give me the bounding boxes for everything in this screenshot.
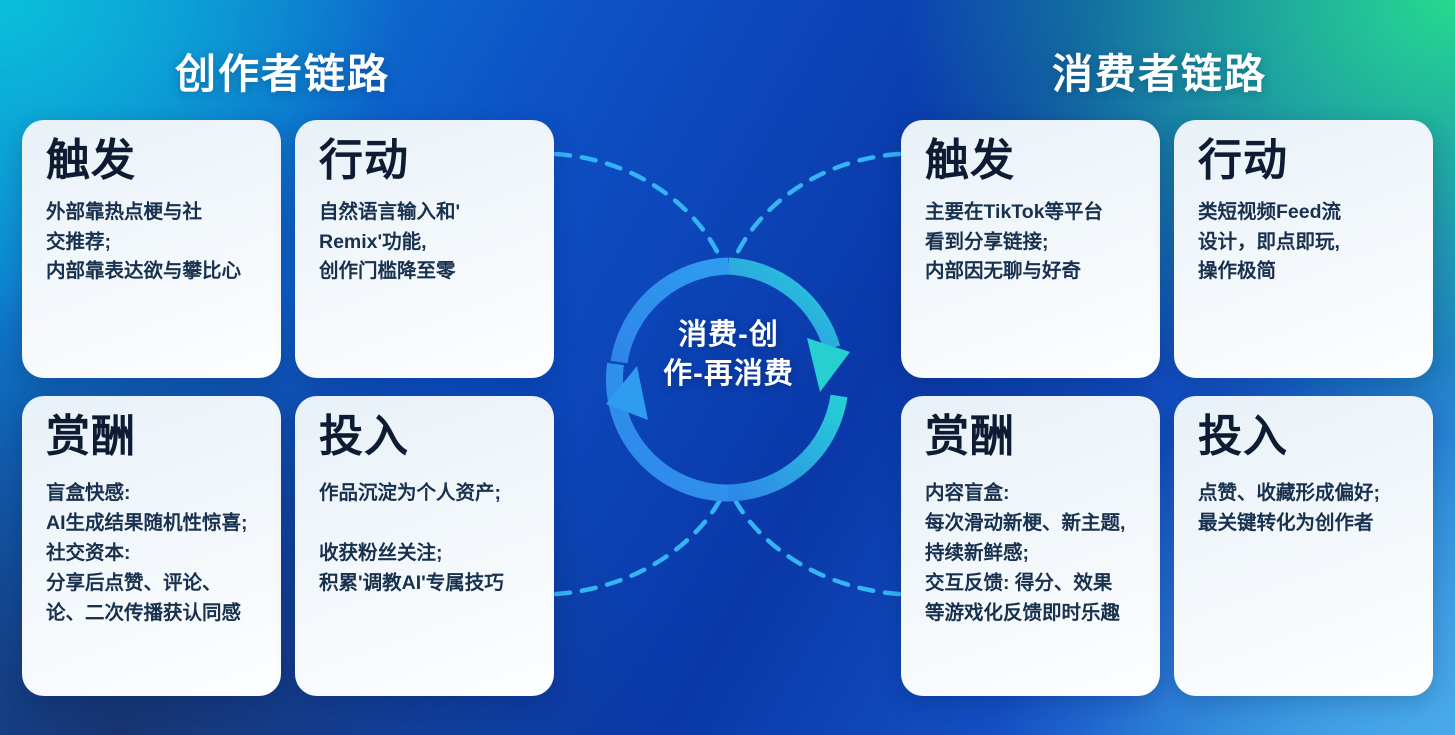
- creator-column-title: 创作者链路: [175, 40, 390, 100]
- card-title: 触发: [925, 138, 1138, 184]
- card-body: 外部靠热点梗与社 交推荐; 内部靠表达欲与攀比心: [46, 198, 259, 287]
- card-body: 点赞、收藏形成偏好; 最关键转化为创作者: [1198, 478, 1411, 538]
- card-title: 行动: [1198, 138, 1411, 184]
- infographic-canvas: 消费-创 作-再消费 创作者链路 消费者链路 触发 外部靠热点梗与社 交推荐; …: [0, 0, 1455, 735]
- card-creator-invest[interactable]: 投入 作品沉淀为个人资产; 收获粉丝关注; 积累'调教AI'专属技巧: [295, 396, 554, 696]
- card-title: 赏酬: [46, 414, 259, 460]
- card-creator-action[interactable]: 行动 自然语言输入和' Remix'功能, 创作门槛降至零: [295, 120, 554, 378]
- cycle-ring-icon: [601, 252, 856, 507]
- card-body: 内容盲盒: 每次滑动新梗、新主题, 持续新鲜感; 交互反馈: 得分、效果 等游戏…: [925, 478, 1138, 628]
- card-body: 主要在TikTok等平台 看到分享链接; 内部因无聊与好奇: [925, 198, 1138, 287]
- card-body: 作品沉淀为个人资产; 收获粉丝关注; 积累'调教AI'专属技巧: [319, 478, 532, 598]
- card-body: 盲盒快感: AI生成结果随机性惊喜; 社交资本: 分享后点赞、评论、 论、二次传…: [46, 478, 259, 628]
- card-title: 触发: [46, 138, 259, 184]
- card-consumer-trigger[interactable]: 触发 主要在TikTok等平台 看到分享链接; 内部因无聊与好奇: [901, 120, 1160, 378]
- card-body: 类短视频Feed流 设计，即点即玩, 操作极简: [1198, 198, 1411, 287]
- consumer-column-title: 消费者链路: [1052, 40, 1267, 100]
- card-title: 投入: [1198, 414, 1411, 460]
- card-creator-trigger[interactable]: 触发 外部靠热点梗与社 交推荐; 内部靠表达欲与攀比心: [22, 120, 281, 378]
- card-consumer-action[interactable]: 行动 类短视频Feed流 设计，即点即玩, 操作极简: [1174, 120, 1433, 378]
- card-consumer-reward[interactable]: 赏酬 内容盲盒: 每次滑动新梗、新主题, 持续新鲜感; 交互反馈: 得分、效果 …: [901, 396, 1160, 696]
- card-body: 自然语言输入和' Remix'功能, 创作门槛降至零: [319, 198, 532, 287]
- card-creator-reward[interactable]: 赏酬 盲盒快感: AI生成结果随机性惊喜; 社交资本: 分享后点赞、评论、 论、…: [22, 396, 281, 696]
- card-title: 投入: [319, 414, 532, 460]
- card-title: 行动: [319, 138, 532, 184]
- card-title: 赏酬: [925, 414, 1138, 460]
- card-consumer-invest[interactable]: 投入 点赞、收藏形成偏好; 最关键转化为创作者: [1174, 396, 1433, 696]
